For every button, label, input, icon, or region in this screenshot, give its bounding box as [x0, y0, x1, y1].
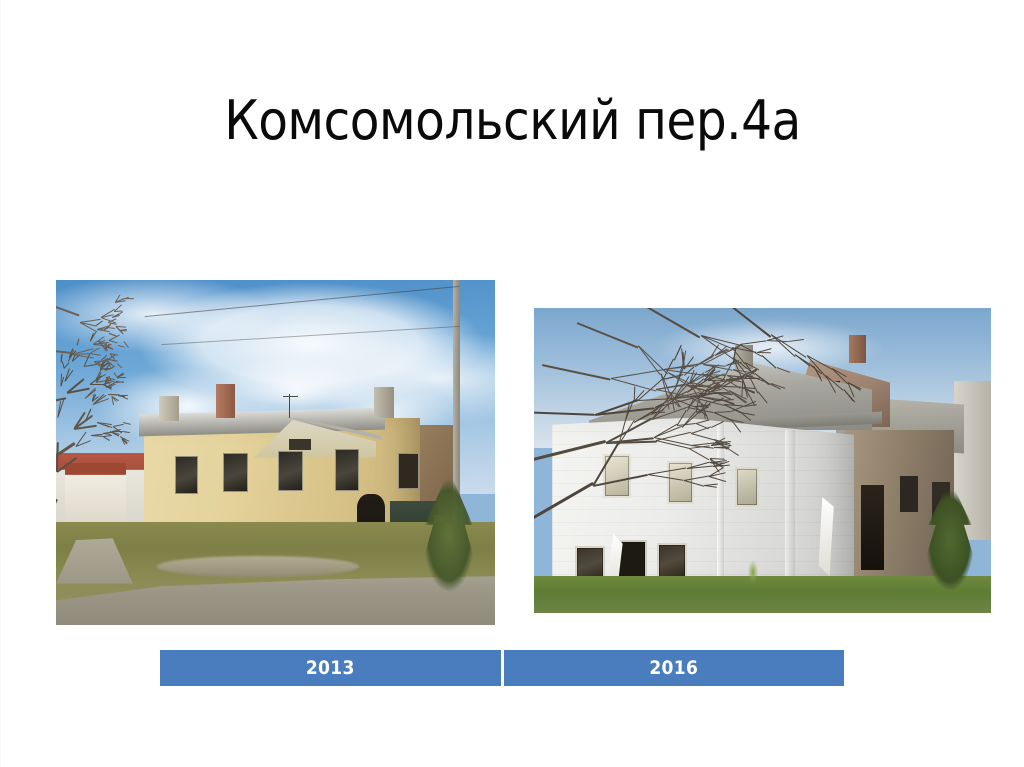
caption-cell-after[interactable]: 2016 — [504, 650, 845, 686]
tv-antenna — [289, 394, 290, 418]
bare-branches-overlay — [534, 308, 954, 558]
window-upper-3 — [278, 451, 303, 491]
window-side — [398, 453, 418, 490]
bare-tree — [56, 280, 267, 542]
chimney-3 — [374, 387, 394, 418]
slide-canvas: Комсомольский пер.4а — [0, 0, 1024, 767]
after-photo[interactable] — [534, 308, 991, 613]
before-photo[interactable] — [56, 280, 495, 625]
year-caption-bar: 2013 2016 — [160, 650, 844, 686]
caption-label-before: 2013 — [306, 657, 355, 679]
caption-label-after: 2016 — [649, 657, 698, 679]
dormer-vent — [289, 439, 311, 450]
window-upper-4 — [335, 449, 359, 491]
grass-area — [534, 576, 991, 613]
caption-cell-before[interactable]: 2013 — [160, 650, 501, 686]
page-title: Комсомольский пер.4а — [1, 92, 1024, 150]
rubble-pile — [157, 556, 359, 577]
